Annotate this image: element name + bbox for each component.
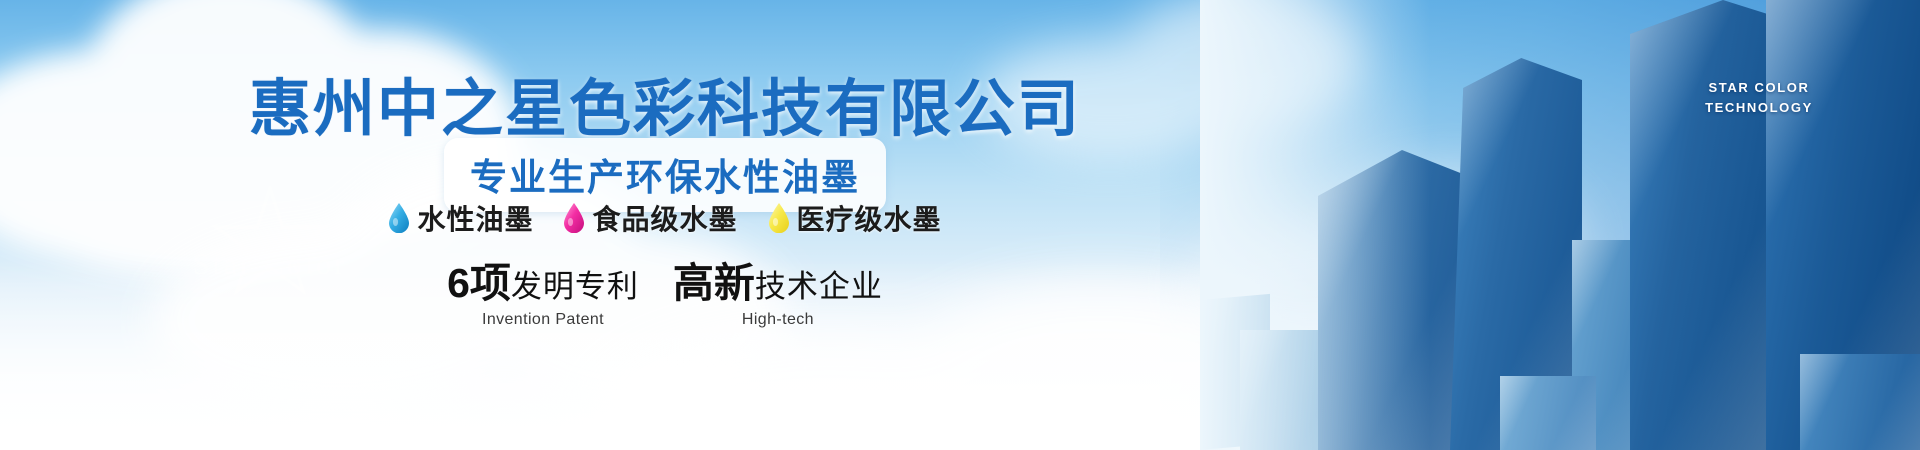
- corner-label-line-1: STAR COLOR: [1684, 78, 1834, 98]
- water-drop-icon: [563, 203, 585, 233]
- badge-main-text: 高新技术企业: [673, 262, 883, 305]
- badge-subtitle: Invention Patent: [447, 311, 639, 329]
- company-title: 惠州中之星色彩科技有限公司: [0, 58, 1330, 148]
- badge-number: 高新: [673, 260, 755, 306]
- badge-label: 技术企业: [755, 269, 883, 304]
- feature-item: 水性油墨: [388, 198, 533, 238]
- corner-label-line-2: TECHNOLOGY: [1684, 98, 1834, 118]
- company-hero-banner: Star Color STAR COLOR TECHNOLOGY 惠州中之星色彩…: [0, 0, 1920, 450]
- star-color-technology-label: STAR COLOR TECHNOLOGY: [1684, 78, 1834, 118]
- water-drop-icon: [768, 203, 790, 233]
- feature-label: 食品级水墨: [592, 198, 737, 238]
- badge-main-text: 6项发明专利: [447, 262, 639, 305]
- badge-invention-patent: 6项发明专利 Invention Patent: [447, 262, 639, 329]
- feature-label: 水性油墨: [417, 198, 533, 238]
- banner-content: 惠州中之星色彩科技有限公司 专业生产环保水性油墨: [0, 0, 1330, 450]
- water-drop-icon: [388, 203, 410, 233]
- building-h: [1800, 354, 1920, 450]
- badge-label: 发明专利: [511, 269, 639, 304]
- feature-item: 食品级水墨: [563, 198, 737, 238]
- feature-item: 医疗级水墨: [768, 198, 942, 238]
- feature-list: 水性油墨 食品级水墨: [0, 198, 1330, 238]
- badge-subtitle: High-tech: [673, 311, 883, 329]
- badge-high-tech: 高新技术企业 High-tech: [673, 262, 883, 329]
- building-f: [1630, 0, 1780, 450]
- feature-label: 医疗级水墨: [797, 198, 942, 238]
- badge-number: 6项: [447, 260, 511, 306]
- building-i: [1500, 376, 1596, 450]
- badge-list: 6项发明专利 Invention Patent 高新技术企业 High-tech: [0, 262, 1330, 329]
